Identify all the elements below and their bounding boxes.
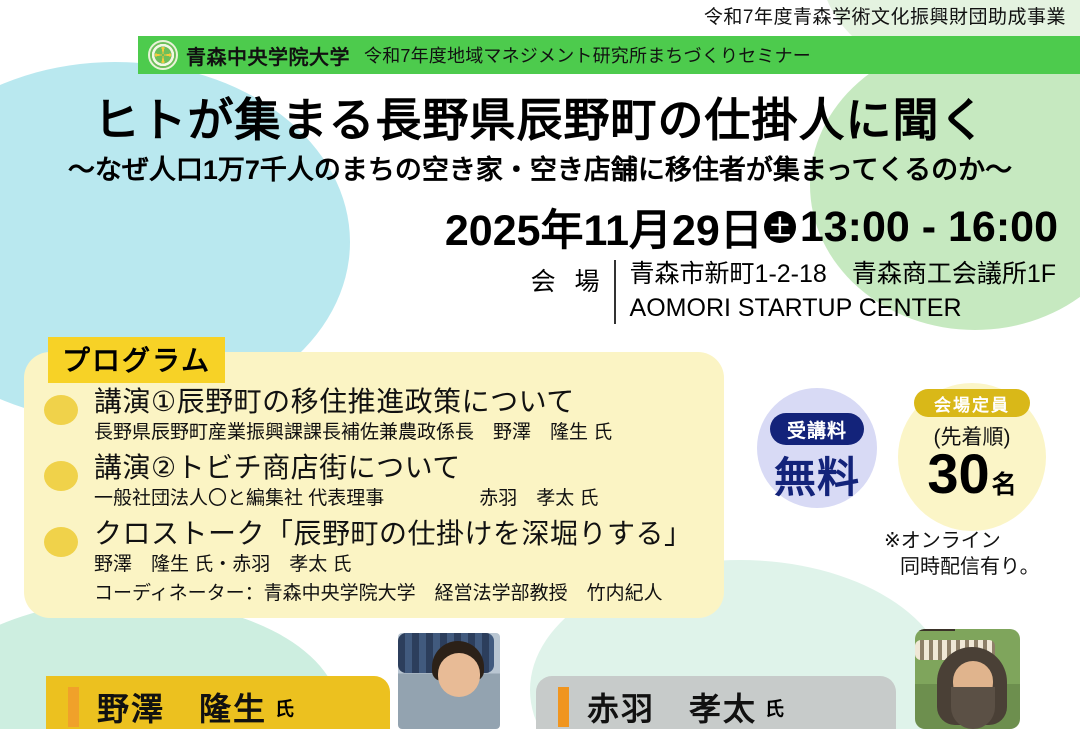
event-date: 2025年11月29日 [445,196,763,258]
seminar-series-name: 令和7年度地域マネジメント研究所まちづくりセミナー [364,42,811,68]
poster-subheadline: 〜なぜ人口1万7千人のまちの空き家・空き店舗に移住者が集まってくるのか〜 [0,148,1080,187]
speaker-name-suffix: 氏 [765,694,784,721]
venue-address: 青森市新町1-2-18 青森商工会議所1F [630,258,1056,292]
accent-bar-icon [558,687,569,727]
speaker-name: 野澤 隆生 [97,684,267,729]
university-crest-icon [148,40,178,70]
program-item-coordinator: コーディネーター：青森中央学院大学 経営法学部教授 竹内紀人 [94,581,693,608]
fee-label: 受講料 [770,413,864,445]
online-streaming-note: ※オンライン 同時配信有り。 [884,528,1074,580]
seminar-banner: 青森中央学院大学 令和7年度地域マネジメント研究所まちづくりセミナー [138,36,1080,74]
online-note-line-2: 同時配信有り。 [900,554,1074,580]
funding-notice: 令和7年度青森学術文化振興財団助成事業 [704,2,1066,29]
speaker-photo-akahane [915,629,1020,729]
speaker-photo-nozawa [398,633,500,729]
university-name: 青森中央学院大学 [186,41,350,70]
photo-face-shape [438,653,480,697]
program-item-speaker: 野澤 隆生 氏・赤羽 孝太 氏 [94,552,693,579]
seminar-poster: 令和7年度青森学術文化振興財団助成事業 青森中央学院大学 令和7年度地域マネジメ… [0,0,1080,729]
day-of-week-badge: 土 [764,211,796,243]
fee-value: 無料 [757,444,877,505]
capacity-label: 会場定員 [914,389,1030,417]
bullet-icon [44,395,78,425]
poster-headline: ヒトが集まる長野県辰野町の仕掛人に聞く [0,84,1080,150]
bullet-icon [44,527,78,557]
event-time: 13:00 - 16:00 [800,203,1058,252]
program-tag: プログラム [48,337,225,383]
program-item-2: 講演②トビチ商店街について 一般社団法人〇と編集社 代表理事 赤羽 孝太 氏 [44,452,599,513]
venue-block: 会 場 青森市新町1-2-18 青森商工会議所1F AOMORI STARTUP… [531,258,1056,326]
event-datetime: 2025年11月29日 土 13:00 - 16:00 [445,196,1058,258]
program-item-speaker: 一般社団法人〇と編集社 代表理事 赤羽 孝太 氏 [94,486,599,513]
program-item-3: クロストーク「辰野町の仕掛けを深堀りする」 野澤 隆生 氏・赤羽 孝太 氏 コー… [44,518,693,607]
capacity-number: 30 [927,442,989,505]
photo-beard-shape [951,687,995,729]
venue-name-en: AOMORI STARTUP CENTER [630,292,1056,326]
online-note-line-1: ※オンライン [884,530,1001,552]
program-item-speaker: 長野県辰野町産業振興課課長補佐兼農政係長 野澤 隆生 氏 [94,420,612,447]
program-item-title: 講演②トビチ商店街について [94,452,599,484]
speaker-bar-2: 赤羽 孝太 氏 [536,676,896,729]
program-item-title: クロストーク「辰野町の仕掛けを深堀りする」 [94,518,693,550]
program-item-title: 講演①辰野町の移住推進政策について [94,386,612,418]
accent-bar-icon [68,687,79,727]
bullet-icon [44,461,78,491]
photo-glasses-shape [915,629,955,640]
speaker-bar-1: 野澤 隆生 氏 [46,676,390,729]
program-item-1: 講演①辰野町の移住推進政策について 長野県辰野町産業振興課課長補佐兼農政係長 野… [44,386,612,447]
speaker-name: 赤羽 孝太 [587,684,757,729]
venue-label: 会 場 [531,258,606,298]
capacity-number-block: 30名 [898,446,1046,502]
capacity-unit: 名 [992,471,1017,499]
venue-divider [614,260,616,324]
speaker-name-suffix: 氏 [275,694,294,721]
